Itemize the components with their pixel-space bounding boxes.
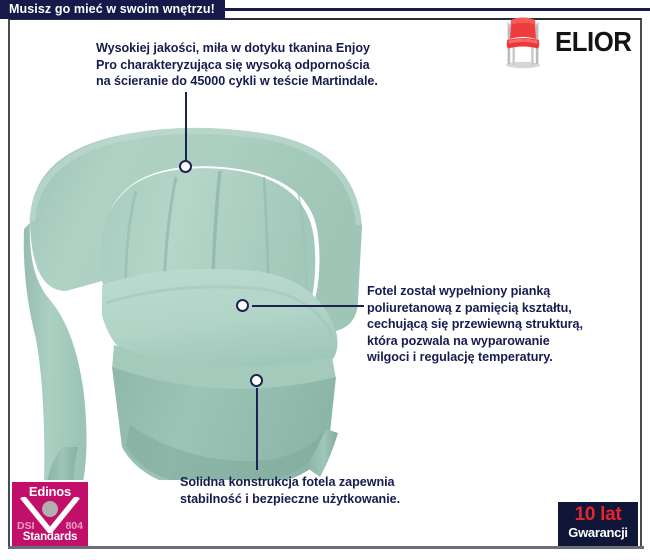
page-title: Musisz go mieć w swoim wnętrzu!: [0, 0, 225, 19]
leader-line-construction: [256, 388, 258, 470]
frame-bottom-shadow: [8, 546, 644, 549]
product-image-armchair: [6, 95, 391, 480]
callout-text-foam: Fotel został wypełniony pianką poliureta…: [367, 283, 643, 366]
callout-text-fabric: Wysokiej jakości, miła w dotyku tkanina …: [96, 40, 476, 90]
leader-line-fabric: [185, 92, 187, 162]
warranty-years: 10 lat: [558, 504, 638, 525]
brand-wordmark: ELIOR: [555, 26, 631, 58]
brand-logo: ELIOR: [499, 14, 638, 70]
header-band: Musisz go mieć w swoim wnętrzu!: [0, 0, 650, 19]
callout-marker-fabric[interactable]: [179, 160, 192, 173]
warranty-badge: 10 lat Gwarancji: [558, 502, 638, 546]
edinos-certification-badge: Edinos DSI 804 Standards: [12, 482, 88, 546]
red-chair-icon: [499, 14, 547, 70]
callout-text-construction: Solidna konstrukcja fotela zapewnia stab…: [180, 474, 520, 507]
product-infographic-page: Musisz go mieć w swoim wnętrzu! ELIOR: [0, 0, 650, 560]
leader-line-foam: [252, 305, 364, 307]
edinos-badge-standards: Standards: [12, 531, 88, 543]
callout-marker-construction[interactable]: [250, 374, 263, 387]
callout-marker-foam[interactable]: [236, 299, 249, 312]
header-rule-line: [208, 8, 650, 11]
warranty-label: Gwarancji: [558, 525, 638, 540]
